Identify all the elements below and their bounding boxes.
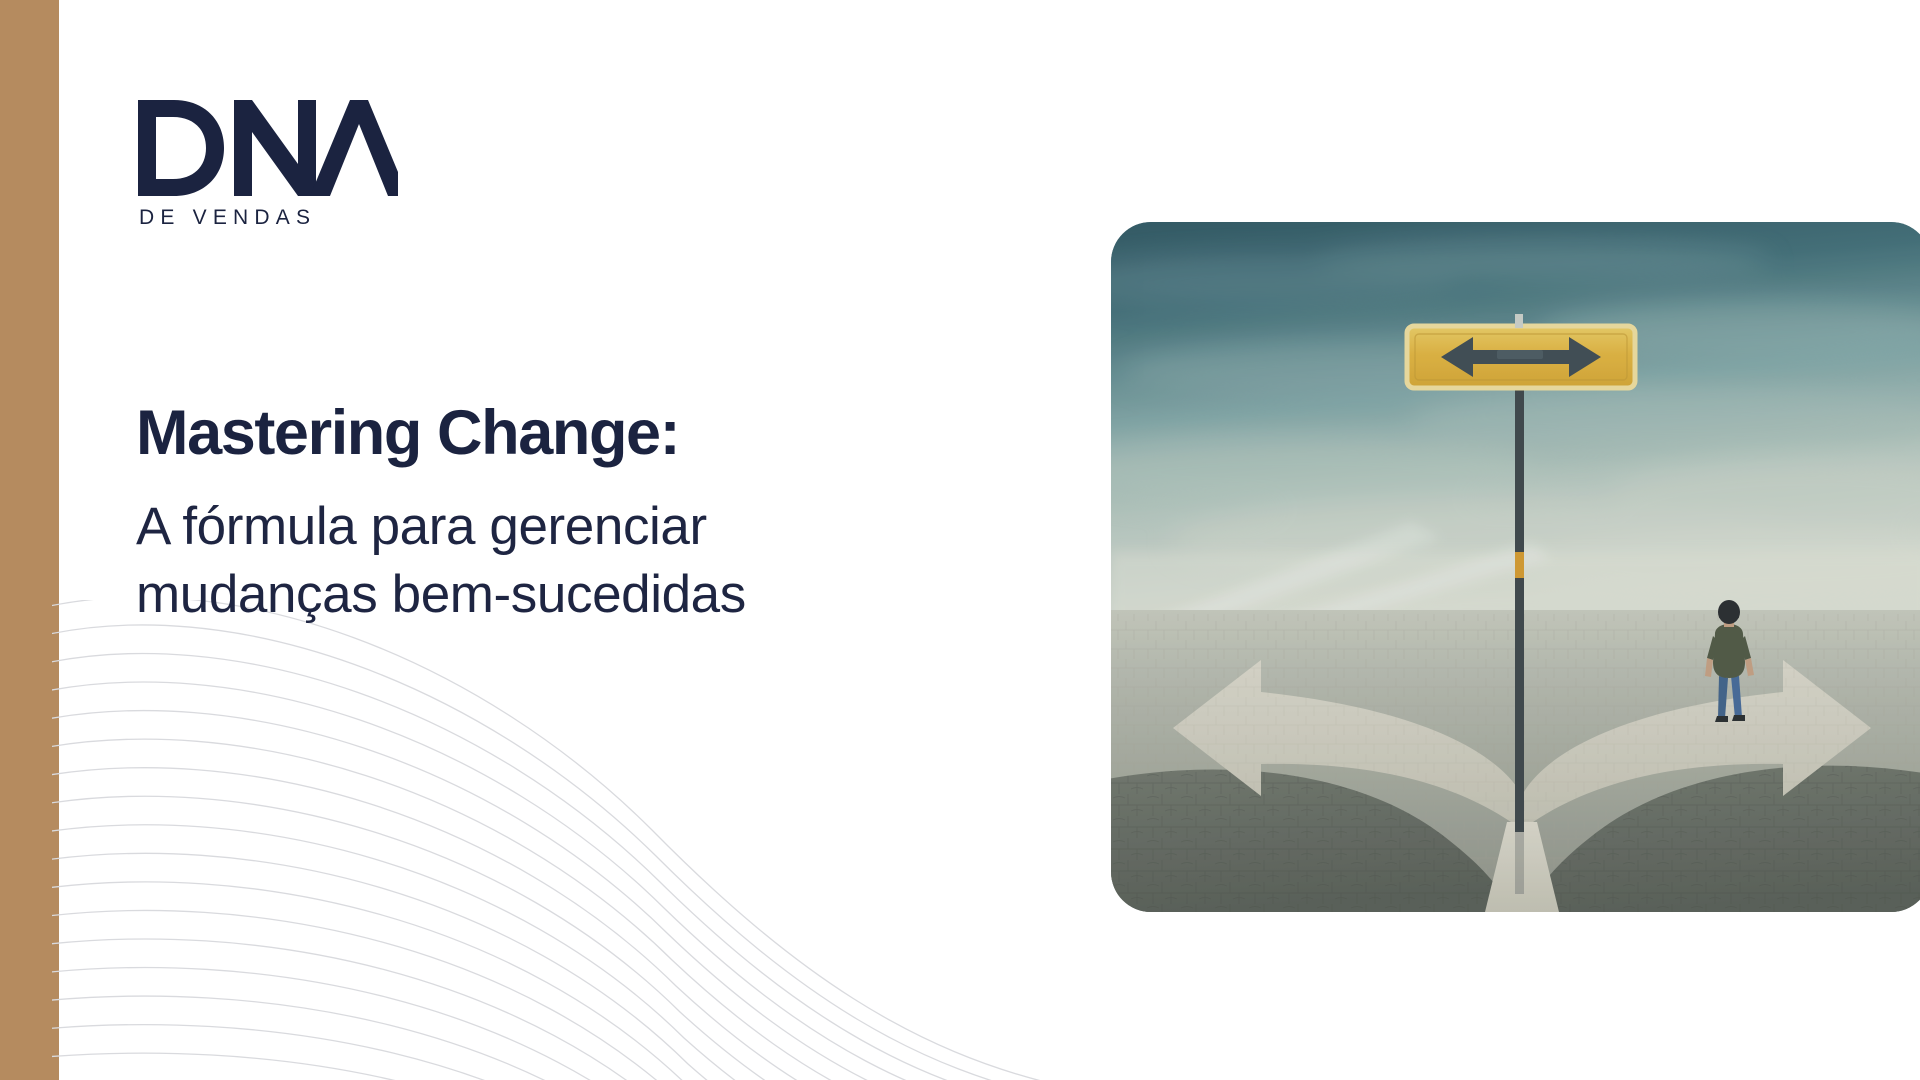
page-title: Mastering Change: bbox=[136, 400, 1016, 467]
wave-lines-decoration bbox=[52, 600, 1052, 1080]
subtitle-line-2: mudanças bem-sucedidas bbox=[136, 561, 1016, 629]
page-subtitle: A fórmula para gerenciar mudanças bem-su… bbox=[136, 493, 1016, 629]
hero-image-crossroads bbox=[1111, 222, 1920, 912]
headline-block: Mastering Change: A fórmula para gerenci… bbox=[136, 400, 1016, 628]
left-accent-bar bbox=[0, 0, 59, 1080]
subtitle-line-1: A fórmula para gerenciar bbox=[136, 493, 1016, 561]
slide-root: DE VENDAS DNA DE VENDAS Mastering Change… bbox=[0, 0, 1920, 1080]
logo-secondary-text: DE VENDAS bbox=[139, 206, 316, 228]
brand-logo: DE VENDAS bbox=[138, 98, 398, 228]
